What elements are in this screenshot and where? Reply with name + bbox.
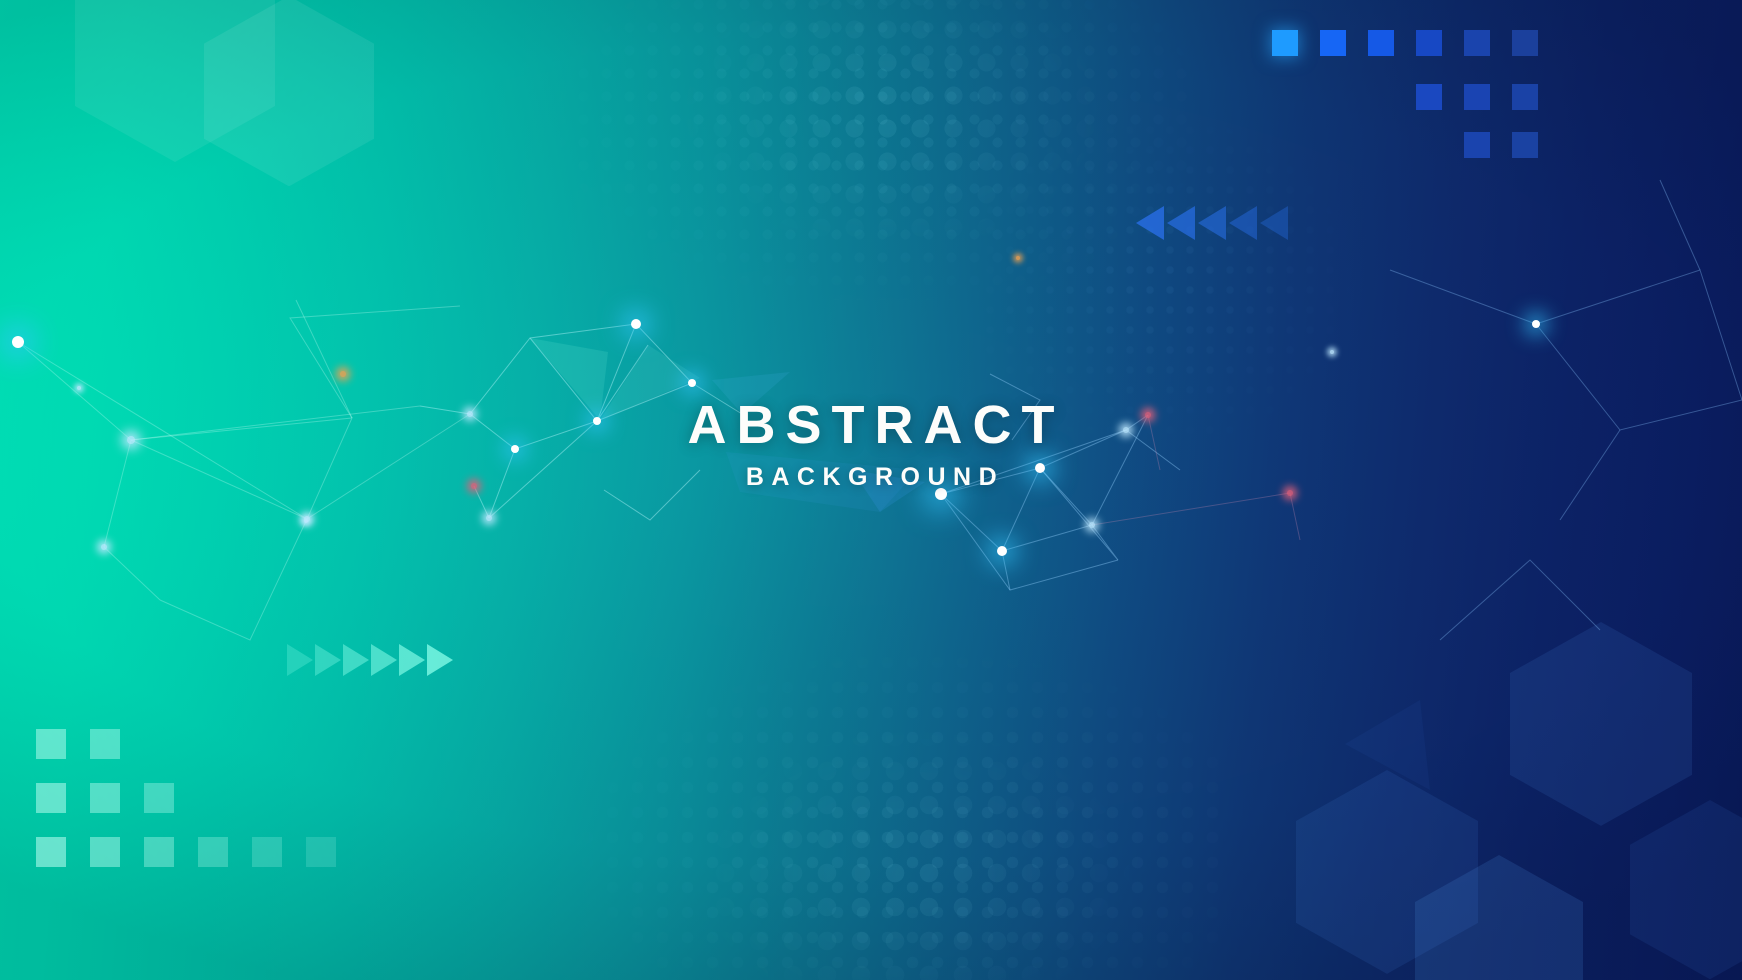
decorative-square (198, 837, 228, 867)
decorative-square (252, 837, 282, 867)
decorative-square (1416, 30, 1442, 56)
decorative-square (90, 783, 120, 813)
network-node (1089, 522, 1095, 528)
decorative-square (1512, 84, 1538, 110)
decorative-square (36, 729, 66, 759)
network-node (688, 379, 696, 387)
decorative-square (1272, 30, 1298, 56)
decorative-square (1464, 84, 1490, 110)
network-node (1330, 350, 1334, 354)
decorative-square (306, 837, 336, 867)
decorative-square (1512, 30, 1538, 56)
decorative-square (36, 783, 66, 813)
decorative-square (90, 837, 120, 867)
decorative-square (1464, 30, 1490, 56)
network-node (1532, 320, 1540, 328)
decorative-square (1464, 132, 1490, 158)
network-node (12, 336, 24, 348)
decorative-square (36, 837, 66, 867)
network-node (997, 546, 1007, 556)
decorative-square (1320, 30, 1346, 56)
decorative-square (90, 729, 120, 759)
network-node (304, 519, 308, 523)
network-node (101, 544, 107, 550)
network-node (1016, 256, 1020, 260)
decorative-square (144, 837, 174, 867)
abstract-background-canvas: ABSTRACT BACKGROUND (0, 0, 1742, 980)
network-node (340, 371, 346, 377)
decorative-square (1512, 132, 1538, 158)
decorative-square (1368, 30, 1394, 56)
network-node (1287, 490, 1293, 496)
network-node (631, 319, 641, 329)
page-title: ABSTRACT (0, 398, 1742, 452)
decorative-square (1416, 84, 1442, 110)
page-subtitle: BACKGROUND (0, 465, 1742, 490)
heading-block: ABSTRACT BACKGROUND (0, 398, 1742, 490)
decorative-square (144, 783, 174, 813)
network-node (486, 515, 492, 521)
network-node (77, 386, 81, 390)
